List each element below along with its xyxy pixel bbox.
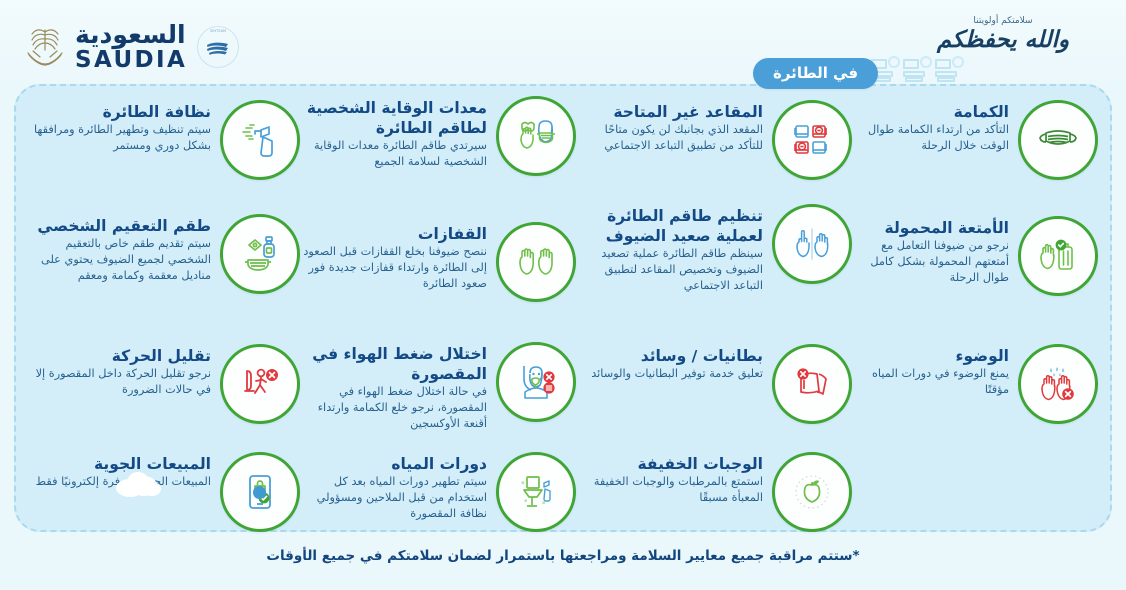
no-ablution-icon: [1018, 344, 1098, 424]
guideline-description: سيتم تطهير دورات المياه بعد كل استخدام م…: [300, 474, 487, 522]
guideline-description: يمنع الوضوء في دورات المياه مؤقتًا: [852, 366, 1009, 398]
guideline-text: تنظيم طاقم الطائرة لعملية صعيد الضيوف سي…: [576, 204, 763, 294]
guideline-text: القفازات ننصح ضيوفنا بخلع القفازات قبل ا…: [300, 222, 487, 292]
guidelines-grid: نظافة الطائرة سيتم تنظيف وتطهير الطائرة …: [14, 84, 1112, 532]
logo-english-name: SAUDIA: [75, 48, 187, 72]
guideline-description: سينظم طاقم الطائرة عملية تصعيد الضيوف وت…: [576, 246, 763, 294]
logo-arabic-name: السعودية: [75, 22, 186, 47]
guideline-item: المقاعد غير المتاحة المقعد الذي بجانبك ل…: [576, 100, 852, 180]
guideline-text: بطانيات / وسائد تعليق خدمة توفير البطاني…: [591, 344, 763, 382]
cloud-decoration-icon: [112, 470, 168, 500]
section-badge-in-flight: في الطائرة: [753, 58, 878, 89]
guideline-title: نظافة الطائرة: [103, 103, 211, 121]
column-left: الكمامة التأكد من ارتداء الكمامة طوال ال…: [852, 94, 1098, 526]
guideline-text: الكمامة التأكد من ارتداء الكمامة طوال ال…: [852, 100, 1009, 154]
guideline-title: تنظيم طاقم الطائرة لعملية صعيد الضيوف: [606, 207, 763, 245]
column-center-left: المقاعد غير المتاحة المقعد الذي بجانبك ل…: [576, 94, 852, 526]
guideline-title: بطانيات / وسائد: [641, 347, 763, 365]
guideline-item: دورات المياه سيتم تطهير دورات المياه بعد…: [300, 452, 576, 532]
svg-text:SKYTEAM: SKYTEAM: [210, 29, 226, 33]
no-blankets-pillows-icon: [772, 344, 852, 424]
guideline-title: الأمتعة المحمولة: [885, 219, 1009, 237]
guideline-title: طقم التعقيم الشخصي: [37, 217, 211, 235]
spray-bottle-icon: [220, 100, 300, 180]
guideline-item: الوضوء يمنع الوضوء في دورات المياه مؤقتً…: [852, 344, 1098, 424]
guideline-item: بطانيات / وسائد تعليق خدمة توفير البطاني…: [576, 344, 852, 424]
guideline-description: نرجو تقليل الحركة داخل المقصورة إلا في ح…: [28, 366, 211, 398]
guideline-text: المقاعد غير المتاحة المقعد الذي بجانبك ل…: [576, 100, 763, 154]
boarding-control-hands-icon: [772, 204, 852, 284]
blocked-seats-icon: [772, 100, 852, 180]
calligraphy-main-text: والله يحفظكم: [898, 28, 1108, 52]
guideline-item: القفازات ننصح ضيوفنا بخلع القفازات قبل ا…: [300, 222, 576, 302]
oxygen-mask-icon: [496, 342, 576, 422]
crew-ppe-icon: [496, 96, 576, 176]
gloves-icon: [496, 222, 576, 302]
sanitizer-kit-icon: [220, 214, 300, 294]
lavatory-icon: [496, 452, 576, 532]
guideline-description: ننصح ضيوفنا بخلع القفازات قبل الصعود إلى…: [300, 244, 487, 292]
guideline-item: طقم التعقيم الشخصي سيتم تقديم طقم خاص با…: [28, 214, 300, 294]
guideline-description: استمتع بالمرطبات والوجبات الخفيفة المعبأ…: [576, 474, 763, 506]
guideline-description: نرجو من ضيوفنا التعامل مع أمتعتهم المحمو…: [852, 238, 1009, 286]
guideline-text: الوجبات الخفيفة استمتع بالمرطبات والوجبا…: [576, 452, 763, 506]
guideline-text: الوضوء يمنع الوضوء في دورات المياه مؤقتً…: [852, 344, 1009, 398]
apple-snack-icon: [772, 452, 852, 532]
safety-footnote: *ستتم مراقبة جميع معايير السلامة ومراجعت…: [0, 548, 1126, 564]
reduce-movement-icon: [220, 344, 300, 424]
guideline-text: الأمتعة المحمولة نرجو من ضيوفنا التعامل …: [852, 216, 1009, 286]
guideline-text: تقليل الحركة نرجو تقليل الحركة داخل المق…: [28, 344, 211, 398]
saudia-logo: السعودية SAUDIA SKYTEAM: [24, 22, 242, 72]
guideline-text: نظافة الطائرة سيتم تنظيف وتطهير الطائرة …: [28, 100, 211, 154]
calligraphy-subtitle: سلامتكم أولويتنا: [898, 16, 1108, 26]
guideline-text: دورات المياه سيتم تطهير دورات المياه بعد…: [300, 452, 487, 522]
guideline-item: الوجبات الخفيفة استمتع بالمرطبات والوجبا…: [576, 452, 852, 532]
guideline-item: تنظيم طاقم الطائرة لعملية صعيد الضيوف سي…: [576, 204, 852, 294]
route-endpoint-dot: [253, 486, 266, 499]
guideline-description: تعليق خدمة توفير البطانيات والوسائد: [591, 366, 763, 382]
aircraft-seats-decoration-icon: [868, 50, 968, 96]
guideline-item: نظافة الطائرة سيتم تنظيف وتطهير الطائرة …: [28, 100, 300, 180]
guideline-description: التأكد من ارتداء الكمامة طوال الوقت خلال…: [852, 122, 1009, 154]
guideline-title: الوضوء: [956, 347, 1009, 365]
guideline-description: سيتم تقديم طقم خاص بالتعقيم الشخصي لجميع…: [28, 236, 211, 284]
guideline-title: تقليل الحركة: [112, 347, 211, 365]
carry-on-baggage-icon: [1018, 216, 1098, 296]
logo-wordmark: السعودية SAUDIA: [75, 22, 187, 72]
guideline-text: اختلال ضغط الهواء في المقصورة في حالة اخ…: [300, 342, 487, 432]
guideline-item: الأمتعة المحمولة نرجو من ضيوفنا التعامل …: [852, 216, 1098, 296]
guideline-title: الكمامة: [954, 103, 1009, 121]
guideline-title: القفازات: [418, 225, 487, 243]
guideline-title: اختلال ضغط الهواء في المقصورة: [312, 345, 487, 383]
column-center-right: معدات الوقاية الشخصية لطاقم الطائرة سيرت…: [300, 94, 576, 526]
guideline-item: تقليل الحركة نرجو تقليل الحركة داخل المق…: [28, 344, 300, 424]
guideline-description: سيرتدي طاقم الطائرة معدات الوقاية الشخصي…: [300, 138, 487, 170]
guideline-text: طقم التعقيم الشخصي سيتم تقديم طقم خاص با…: [28, 214, 211, 284]
page-header: السعودية SAUDIA SKYTEAM سلامتكم أولويتنا…: [0, 0, 1126, 92]
guideline-item: اختلال ضغط الهواء في المقصورة في حالة اخ…: [300, 342, 576, 432]
column-right: نظافة الطائرة سيتم تنظيف وتطهير الطائرة …: [28, 94, 300, 526]
guideline-item: معدات الوقاية الشخصية لطاقم الطائرة سيرت…: [300, 96, 576, 176]
guideline-title: المقاعد غير المتاحة: [613, 103, 763, 121]
face-mask-icon: [1018, 100, 1098, 180]
guideline-text: معدات الوقاية الشخصية لطاقم الطائرة سيرت…: [300, 96, 487, 170]
guideline-description: سيتم تنظيف وتطهير الطائرة ومرافقها بشكل …: [28, 122, 211, 154]
skyteam-logo-icon: SKYTEAM: [196, 25, 240, 69]
guideline-title: معدات الوقاية الشخصية لطاقم الطائرة: [307, 99, 487, 137]
guideline-description: المقعد الذي بجانبك لن يكون متاحًا للتأكد…: [576, 122, 763, 154]
guideline-item: الكمامة التأكد من ارتداء الكمامة طوال ال…: [852, 100, 1098, 180]
palm-and-swords-icon: [24, 24, 66, 70]
guideline-title: الوجبات الخفيفة: [638, 455, 763, 473]
guideline-title: دورات المياه: [391, 455, 487, 473]
guideline-description: في حالة اختلال ضغط الهواء في المقصورة، ن…: [300, 384, 487, 432]
